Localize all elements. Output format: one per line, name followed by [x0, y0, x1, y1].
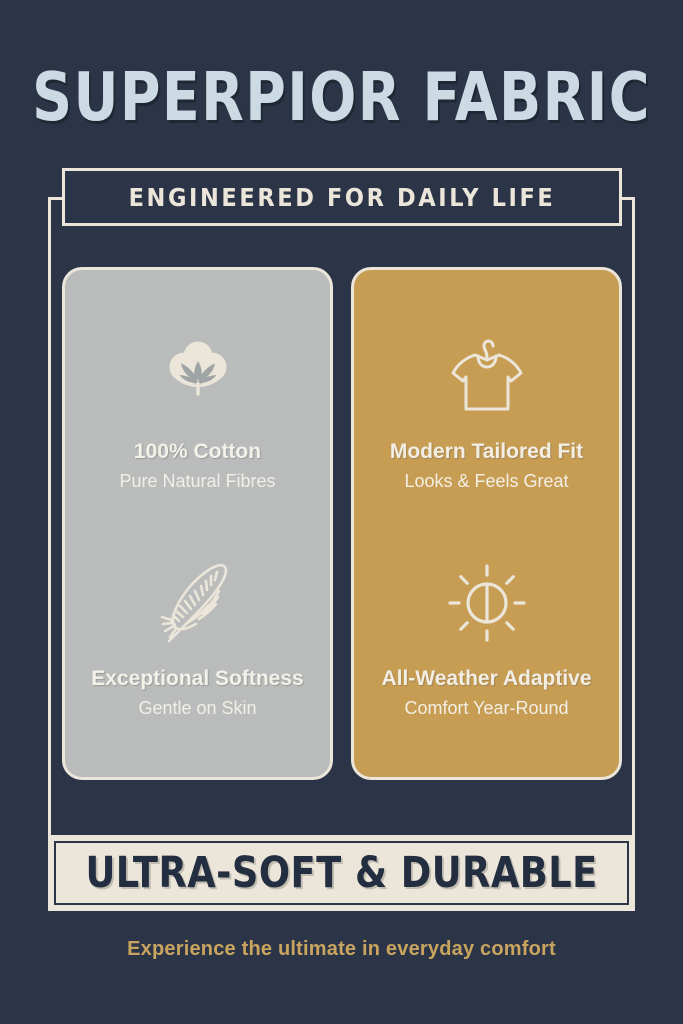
- poster-canvas: SUPERPIOR FABRIC ENGINEERED FOR DAILY LI…: [0, 0, 683, 1024]
- feather-icon: [153, 556, 243, 650]
- feature-card-grid: 100% Cotton Pure Natural Fibres: [62, 267, 622, 780]
- frame-border-left: [48, 197, 51, 911]
- feature-title: 100% Cotton: [134, 439, 261, 465]
- page-title: SUPERPIOR FABRIC: [27, 61, 655, 133]
- banner-text: ULTRA-SOFT & DURABLE: [85, 848, 597, 898]
- feature-card-gold[interactable]: Modern Tailored Fit Looks & Feels Great: [351, 267, 622, 780]
- feature-cotton[interactable]: 100% Cotton Pure Natural Fibres: [73, 329, 322, 493]
- feature-subtitle: Looks & Feels Great: [404, 470, 568, 493]
- bottom-banner-inner: ULTRA-SOFT & DURABLE: [54, 841, 629, 905]
- feature-title: Modern Tailored Fit: [390, 439, 583, 465]
- subtitle-text: ENGINEERED FOR DAILY LIFE: [129, 183, 556, 212]
- bottom-banner: ULTRA-SOFT & DURABLE: [48, 835, 635, 911]
- feature-fit[interactable]: Modern Tailored Fit Looks & Feels Great: [362, 329, 611, 493]
- tagline-text: Experience the ultimate in everyday comf…: [0, 938, 683, 961]
- feature-subtitle: Gentle on Skin: [138, 697, 256, 720]
- sun-icon: [446, 556, 528, 650]
- feature-subtitle: Comfort Year-Round: [404, 697, 568, 720]
- subtitle-box: ENGINEERED FOR DAILY LIFE: [62, 168, 622, 226]
- feature-weather[interactable]: All-Weather Adaptive Comfort Year-Round: [362, 556, 611, 720]
- feature-card-grey[interactable]: 100% Cotton Pure Natural Fibres: [62, 267, 333, 780]
- feature-subtitle: Pure Natural Fibres: [119, 470, 275, 493]
- feature-title: All-Weather Adaptive: [381, 666, 591, 692]
- cotton-boll-icon: [161, 329, 235, 423]
- tshirt-hanger-icon: [445, 329, 529, 423]
- frame-border-right: [632, 197, 635, 911]
- feature-title: Exceptional Softness: [91, 666, 303, 692]
- feature-softness[interactable]: Exceptional Softness Gentle on Skin: [73, 556, 322, 720]
